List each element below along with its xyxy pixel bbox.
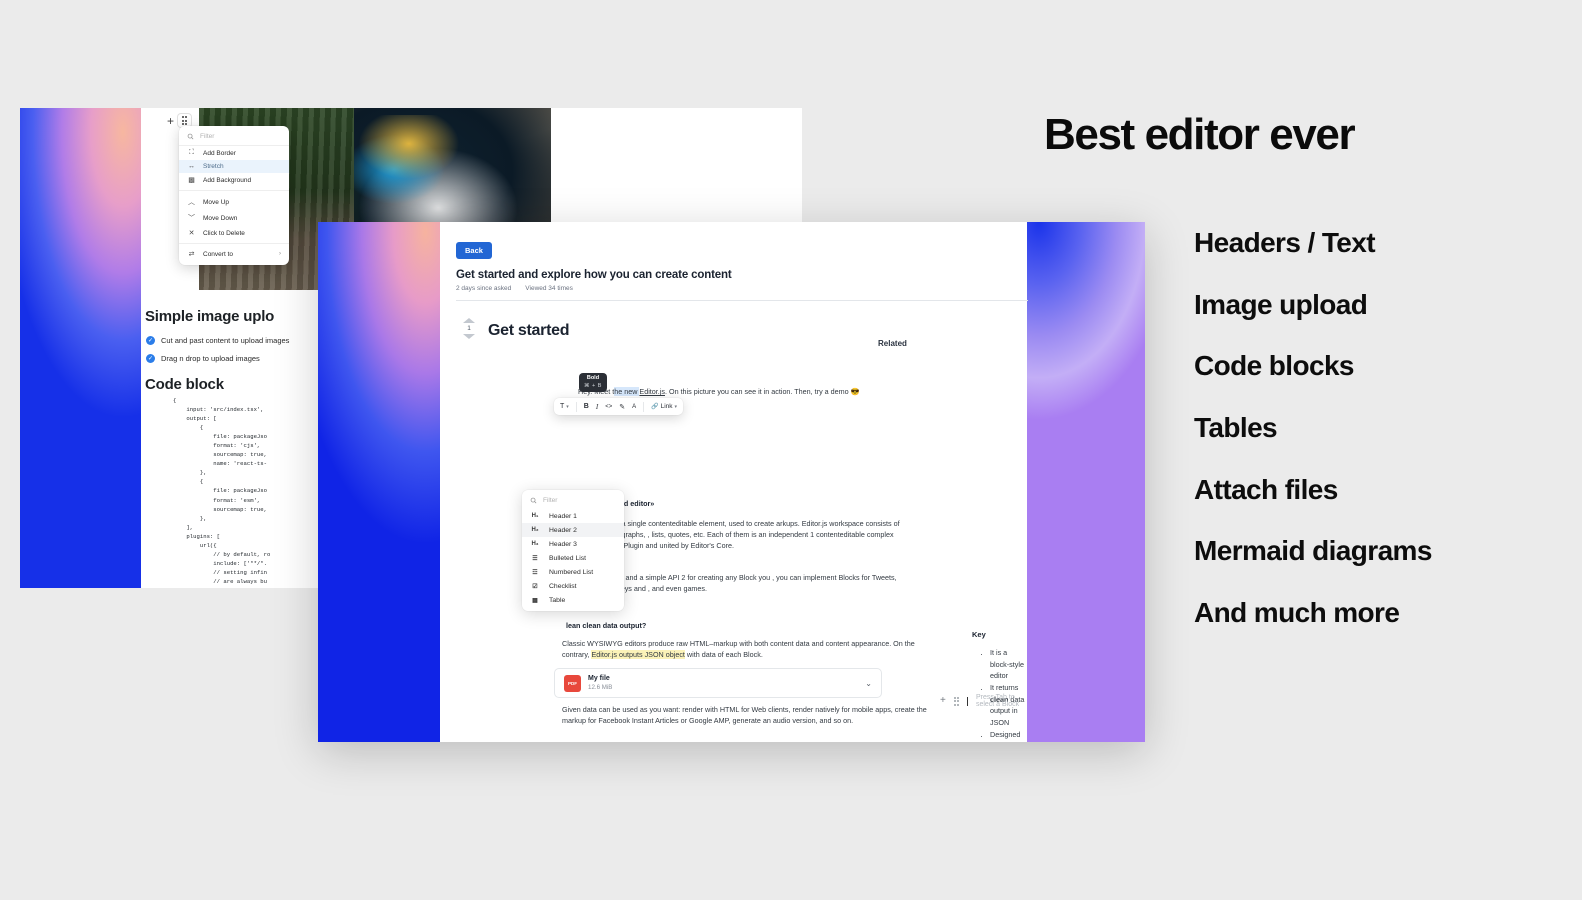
vote-widget[interactable]: 1 <box>458 318 480 339</box>
intro-after: . On this picture you can see it in acti… <box>665 387 851 396</box>
image-menu-filter-placeholder: Filter <box>200 133 214 140</box>
promo-column: Best editor ever Headers / Text Image up… <box>1044 112 1564 643</box>
add-block-icon[interactable]: + <box>940 696 946 706</box>
list-item: Designed to be extendable and pluggable … <box>990 729 1027 742</box>
image-tool-menu[interactable]: Filter ⛶ Add Border ↔ Stretch ▩ Add Back… <box>179 126 289 265</box>
question-title: Get started and explore how you can crea… <box>456 269 732 281</box>
question-meta: 2 days since asked Viewed 34 times <box>456 285 573 292</box>
promo-feature-item: Image upload <box>1194 274 1564 336</box>
downvote-icon[interactable] <box>463 334 475 339</box>
h2-icon: H₂ <box>530 527 540 533</box>
convert-icon: ⇄ <box>187 250 196 258</box>
back-button[interactable]: Back <box>456 242 492 259</box>
back-checklist-label: Cut and past content to upload images <box>161 336 289 345</box>
link-icon[interactable]: 🔗 Link ▾ <box>651 403 677 410</box>
text-caret <box>967 697 968 706</box>
paragraph-4: Given data can be used as you want: rend… <box>562 704 936 726</box>
check-icon: ✓ <box>146 354 155 363</box>
block-menu-filter-placeholder: Filter <box>543 497 557 504</box>
upvote-icon[interactable] <box>463 318 475 323</box>
screenshot-stage: + Filter ⛶ Add Border <box>0 0 1582 900</box>
file-size: 12.6 MiB <box>588 684 612 692</box>
search-icon <box>187 133 194 140</box>
image-menu-item-move-up[interactable]: ︿ Move Up <box>179 194 289 210</box>
image-menu-label: Click to Delete <box>203 230 245 237</box>
image-menu-item-convert-to[interactable]: ⇄ Convert to › <box>179 247 289 261</box>
article-heading: Get started <box>488 322 569 340</box>
marker-icon[interactable]: ✎ <box>619 403 625 411</box>
bold-tooltip-label: Bold <box>584 375 602 382</box>
back-heading-image-upload: Simple image uplo <box>145 308 274 325</box>
stretch-icon: ↔ <box>187 163 196 170</box>
back-checklist-item[interactable]: ✓ Drag n drop to upload images <box>146 354 260 363</box>
block-menu-label: Bulleted List <box>549 555 586 562</box>
bold-tooltip-shortcut: ⌘ + B <box>584 383 602 389</box>
bold-icon[interactable]: B <box>584 403 589 410</box>
front-window-content: Back Get started and explore how you can… <box>440 222 1027 742</box>
related-sidebar-heading: Related <box>878 339 907 348</box>
font-color-icon[interactable]: A <box>632 404 636 410</box>
list-item-label: It is a block-style editor <box>990 648 1024 680</box>
front-window-gradient-left <box>318 222 440 742</box>
list-item: It is a block-style editor <box>990 647 1027 682</box>
editorjs-link[interactable]: Editor.js <box>639 387 665 396</box>
block-menu-label: Header 2 <box>549 527 577 534</box>
image-menu-item-add-background[interactable]: ▩ Add Background <box>179 173 289 187</box>
chevron-right-icon: › <box>279 251 281 257</box>
inline-code-icon[interactable]: <> <box>605 404 612 410</box>
pdf-icon: PDF <box>564 675 581 692</box>
toolbar-divider <box>643 402 644 412</box>
chevron-up-icon: ︿ <box>187 197 196 207</box>
empty-block-row[interactable]: + Press Tab to select a Block <box>940 694 1027 708</box>
image-menu-divider <box>179 243 289 244</box>
chevron-down-icon: ▾ <box>566 404 569 410</box>
image-menu-item-delete[interactable]: ✕ Click to Delete <box>179 226 289 240</box>
bold-tooltip: Bold ⌘ + B <box>579 373 607 392</box>
block-menu-item-bulleted-list[interactable]: ☰ Bulleted List <box>522 551 624 565</box>
back-heading-code-block: Code block <box>145 376 224 393</box>
block-menu-item-header-3[interactable]: H₃ Header 3 <box>522 537 624 551</box>
back-window-gradient-left <box>20 108 141 588</box>
block-menu-item-header-1[interactable]: H₁ Header 1 <box>522 509 624 523</box>
paragraph-3: Classic WYSIWYG editors produce raw HTML… <box>562 638 932 660</box>
image-menu-filter[interactable]: Filter <box>179 130 289 146</box>
key-label: Key <box>972 630 986 639</box>
section-heading-2: lean clean data output? <box>566 620 906 631</box>
back-checklist-label: Drag n drop to upload images <box>161 354 260 363</box>
image-menu-label: Move Up <box>203 199 229 206</box>
bulleted-list-icon: ☰ <box>530 555 540 562</box>
block-menu-item-checklist[interactable]: ☑ Checklist <box>522 579 624 593</box>
italic-icon[interactable]: I <box>596 403 598 411</box>
file-attachment-card[interactable]: PDF My file 12.6 MiB ⌄ <box>554 668 882 698</box>
h1-icon: H₁ <box>530 513 540 519</box>
close-icon: ✕ <box>187 229 196 237</box>
checklist-icon: ☑ <box>530 583 540 590</box>
vote-count: 1 <box>458 325 480 332</box>
promo-feature-item: Attach files <box>1194 459 1564 521</box>
block-toolbox-menu[interactable]: Filter H₁ Header 1 H₂ Header 2 H₃ Header… <box>522 490 624 611</box>
image-menu-item-move-down[interactable]: ﹀ Move Down <box>179 210 289 226</box>
table-icon: ▦ <box>530 597 540 604</box>
check-icon: ✓ <box>146 336 155 345</box>
background-icon: ▩ <box>187 176 196 184</box>
inline-formatting-toolbar[interactable]: T ▾ B I <> ✎ A 🔗 Link ▾ <box>554 398 683 415</box>
chevron-down-icon: ﹀ <box>187 213 196 223</box>
asked-time: 2 days since asked <box>456 285 511 292</box>
block-menu-label: Header 3 <box>549 541 577 548</box>
intro-paragraph[interactable]: Hey. Meet the new Editor.js. On this pic… <box>578 386 1040 397</box>
image-menu-label: Move Down <box>203 215 237 222</box>
image-menu-divider <box>179 190 289 191</box>
image-menu-label: Stretch <box>203 163 224 170</box>
promo-feature-list: Headers / Text Image upload Code blocks … <box>1044 212 1564 643</box>
block-menu-item-table[interactable]: ▦ Table <box>522 593 624 607</box>
promo-feature-item: Headers / Text <box>1194 212 1564 274</box>
image-menu-label: Add Border <box>203 150 236 157</box>
promo-feature-item: Mermaid diagrams <box>1194 520 1564 582</box>
back-checklist-item[interactable]: ✓ Cut and past content to upload images <box>146 336 289 345</box>
block-menu-label: Numbered List <box>549 569 593 576</box>
promo-feature-item: Code blocks <box>1194 335 1564 397</box>
promo-title: Best editor ever <box>1044 112 1564 158</box>
image-menu-label: Convert to <box>203 251 233 258</box>
header-divider <box>456 300 1028 301</box>
promo-feature-item: And much more <box>1194 582 1564 644</box>
numbered-list-icon: ☲ <box>530 569 540 576</box>
front-editor-window: Back Get started and explore how you can… <box>318 222 1145 742</box>
border-icon: ⛶ <box>187 149 196 157</box>
block-menu-label: Checklist <box>549 583 577 590</box>
paragraph-3-highlight: Editor.js outputs JSON object <box>591 650 684 659</box>
intro-highlight: he new <box>614 387 639 396</box>
block-menu-filter[interactable]: Filter <box>522 494 624 509</box>
file-name: My file <box>588 674 612 683</box>
search-icon <box>530 497 537 504</box>
block-menu-label: Header 1 <box>549 513 577 520</box>
block-menu-item-header-2[interactable]: H₂ Header 2 <box>522 523 624 537</box>
chevron-down-icon: ▾ <box>675 404 678 410</box>
image-menu-label: Add Background <box>203 177 251 184</box>
chain-glyph: 🔗 <box>651 403 658 410</box>
chevron-down-icon[interactable]: ⌄ <box>865 679 872 688</box>
image-menu-item-stretch[interactable]: ↔ Stretch <box>179 160 289 173</box>
add-block-icon[interactable]: + <box>167 115 174 127</box>
block-menu-item-numbered-list[interactable]: ☲ Numbered List <box>522 565 624 579</box>
toolbar-divider <box>576 402 577 412</box>
block-menu-label: Table <box>549 597 565 604</box>
h3-icon: H₃ <box>530 541 540 547</box>
text-style-icon[interactable]: T ▾ <box>560 403 569 410</box>
view-count: Viewed 34 times <box>525 285 573 292</box>
sunglasses-emoji-icon: 😎 <box>851 387 860 396</box>
drag-handle-icon[interactable] <box>954 697 960 706</box>
promo-feature-item: Tables <box>1194 397 1564 459</box>
block-placeholder: Press Tab to select a Block <box>976 694 1027 708</box>
paragraph-3-b: with data of each Block. <box>685 650 763 659</box>
image-menu-item-add-border[interactable]: ⛶ Add Border <box>179 146 289 160</box>
